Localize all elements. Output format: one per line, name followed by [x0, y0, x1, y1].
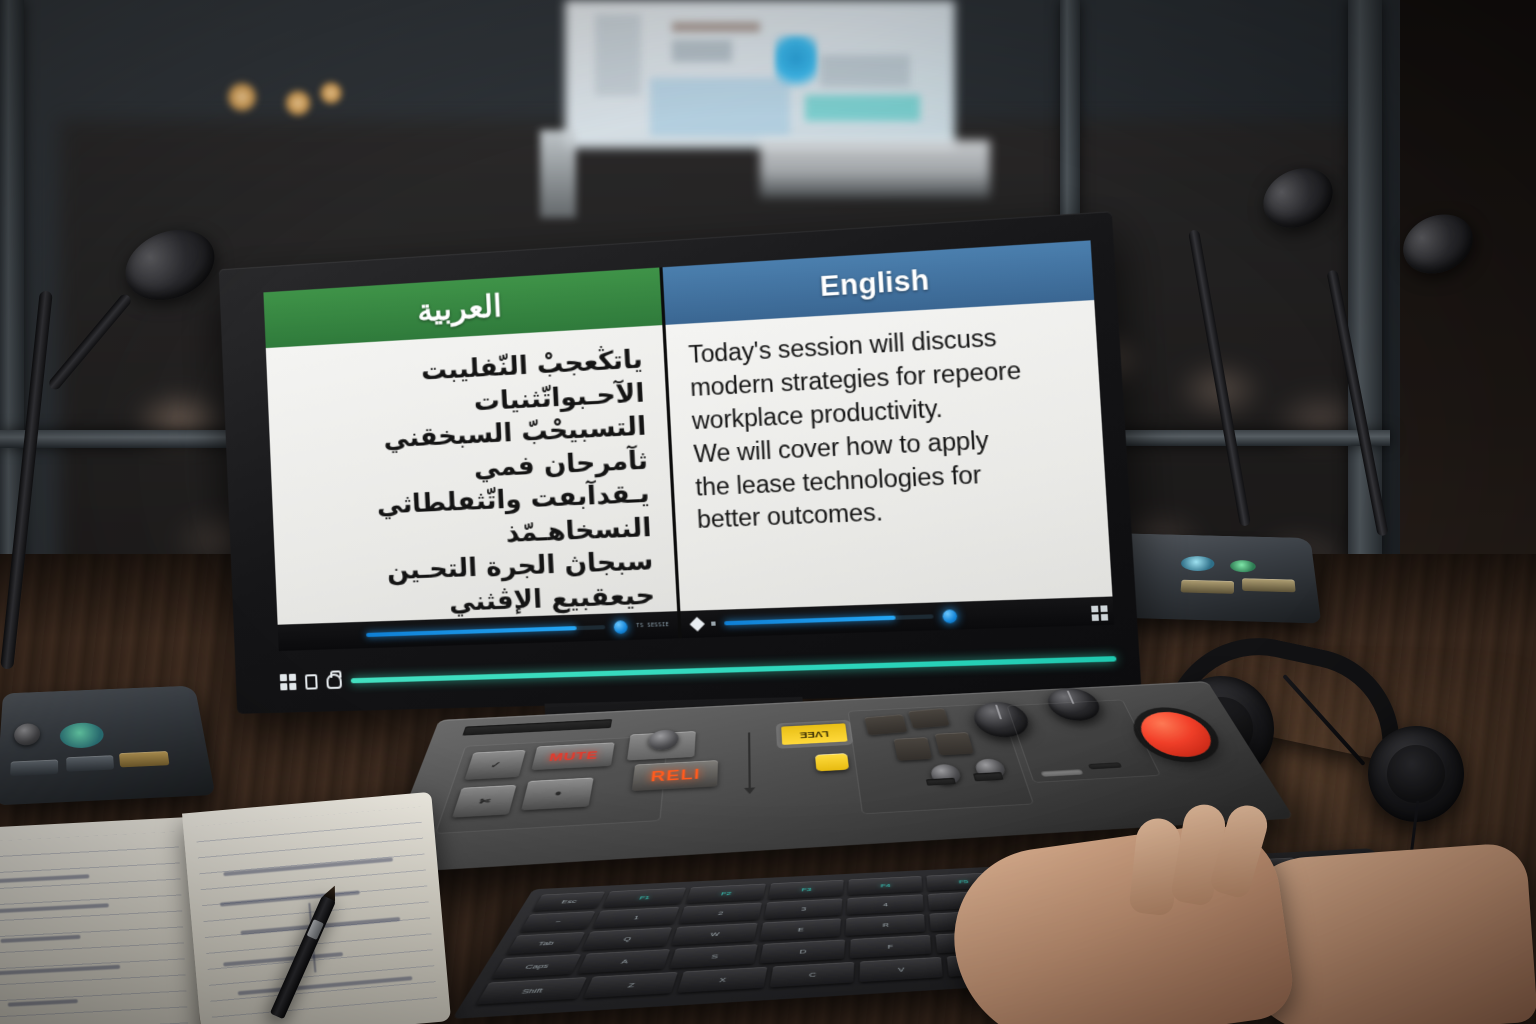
podium-monitor [540, 130, 576, 218]
chin-progress-bar[interactable] [351, 656, 1117, 683]
slide-list-block [820, 55, 910, 87]
key[interactable]: F4 [848, 876, 922, 895]
pane-arabic: العربية ياتڭعجبْ النّفليبت الآحـبواتّثني… [263, 267, 681, 651]
key[interactable]: E [759, 918, 841, 940]
dot-icon [711, 621, 716, 625]
microphone-button-right-1[interactable] [1180, 580, 1234, 594]
key[interactable]: 1 [592, 907, 679, 928]
microphone-base-left[interactable] [0, 686, 215, 806]
microphone-button-1[interactable] [10, 759, 58, 776]
key[interactable]: 4 [847, 894, 924, 914]
relay-button-label: RELI [650, 766, 701, 785]
flow-arrow-icon [748, 732, 751, 789]
head-table [760, 140, 990, 198]
yellow-function-button[interactable] [815, 753, 849, 771]
key[interactable]: F2 [686, 884, 766, 904]
console-vent-slot [462, 719, 612, 736]
source-button-4[interactable] [935, 732, 974, 755]
microphone-button-2[interactable] [66, 755, 114, 771]
microphone-led-indicator [1180, 556, 1214, 572]
source-button-2[interactable] [908, 708, 950, 729]
hall-light-icon [318, 80, 344, 106]
mute-button-label: MUTE [548, 749, 599, 764]
hall-light-icon [225, 80, 259, 114]
pane-english: English Today's session will discuss mod… [663, 240, 1115, 638]
pane-body-arabic: ياتڭعجبْ النّفليبت الآحـبواتّثنيات التسب… [266, 325, 679, 651]
key[interactable]: W [671, 923, 757, 946]
key[interactable]: Tab [506, 932, 585, 954]
key[interactable]: V [860, 957, 943, 982]
camera-icon[interactable] [326, 673, 342, 689]
slide-logo-icon [775, 35, 817, 95]
key[interactable]: S [670, 944, 759, 968]
key[interactable]: ~ [520, 911, 595, 932]
key[interactable]: F3 [768, 880, 845, 899]
slide-footer-block [805, 95, 920, 121]
indicator-slot-2 [973, 772, 1004, 781]
microphone-led-indicator [60, 722, 105, 749]
record-button[interactable]: ● [521, 778, 593, 811]
key[interactable]: R [846, 914, 926, 936]
key[interactable]: 3 [763, 898, 842, 919]
arabic-slider-handle[interactable] [614, 620, 629, 634]
monitor-screen: العربية ياتڭعجبْ النّفليبت الآحـبواتّثني… [263, 240, 1114, 651]
relay-button[interactable]: RELI [632, 760, 718, 791]
console-group-right [1006, 700, 1161, 783]
key[interactable]: F1 [602, 888, 685, 908]
hall-light-icon [283, 88, 313, 118]
notebook [0, 792, 449, 1024]
notebook-page-left [0, 817, 201, 1024]
key[interactable]: 2 [679, 903, 762, 924]
microphone-button-3[interactable] [119, 751, 169, 767]
mute-button[interactable]: MUTE [531, 742, 614, 770]
arabic-playback-slider[interactable] [366, 625, 605, 637]
document-icon[interactable] [305, 674, 318, 690]
microphone-led-indicator-2 [1230, 560, 1256, 573]
key[interactable]: Caps [492, 954, 581, 979]
key[interactable]: Esc [532, 892, 605, 912]
slide-subheading-block [672, 40, 732, 62]
pane-body-english: Today's session will discuss modern stra… [666, 300, 1115, 638]
grid-icon[interactable] [280, 674, 297, 691]
microphone-button-right-2[interactable] [1242, 578, 1296, 592]
arabic-strip-label: TS SESSIE [636, 622, 669, 629]
notebook-rules [0, 832, 189, 1024]
key[interactable]: Q [582, 927, 672, 950]
key[interactable]: X [677, 967, 767, 993]
channel-label-tag: LVEE [781, 723, 847, 745]
scene-root: العربية ياتڭعجبْ النّفليبت الآحـبواتّثني… [0, 0, 1536, 1024]
slide-heading-block [672, 22, 760, 32]
diamond-icon[interactable] [690, 617, 705, 632]
english-slider-handle[interactable] [942, 609, 957, 623]
subtitle-monitor: العربية ياتڭعجبْ النّفليبت الآحـبواتّثني… [219, 211, 1142, 714]
slide-image-block [595, 14, 641, 96]
key[interactable]: A [578, 949, 671, 974]
key[interactable]: F [849, 935, 931, 958]
key[interactable]: D [760, 940, 844, 964]
slide-body-block [650, 78, 790, 136]
monitor-bezel: العربية ياتڭعجبْ النّفليبت الآحـبواتّثني… [219, 211, 1142, 714]
english-playback-slider[interactable] [724, 614, 934, 625]
cut-button[interactable]: ✄ [452, 785, 516, 818]
arabic-line: سبجاڽ الجرة التحـين حيعقبيع الإڤثني [295, 544, 656, 624]
source-button-3[interactable] [894, 737, 932, 761]
check-button[interactable]: ✓ [465, 750, 526, 780]
key[interactable]: Shift [476, 977, 587, 1005]
key[interactable]: C [769, 962, 855, 988]
key[interactable]: Z [583, 972, 677, 998]
grid-corner-icon[interactable] [1091, 605, 1108, 621]
microphone-dial[interactable] [14, 723, 41, 746]
source-button-1[interactable] [864, 714, 907, 735]
